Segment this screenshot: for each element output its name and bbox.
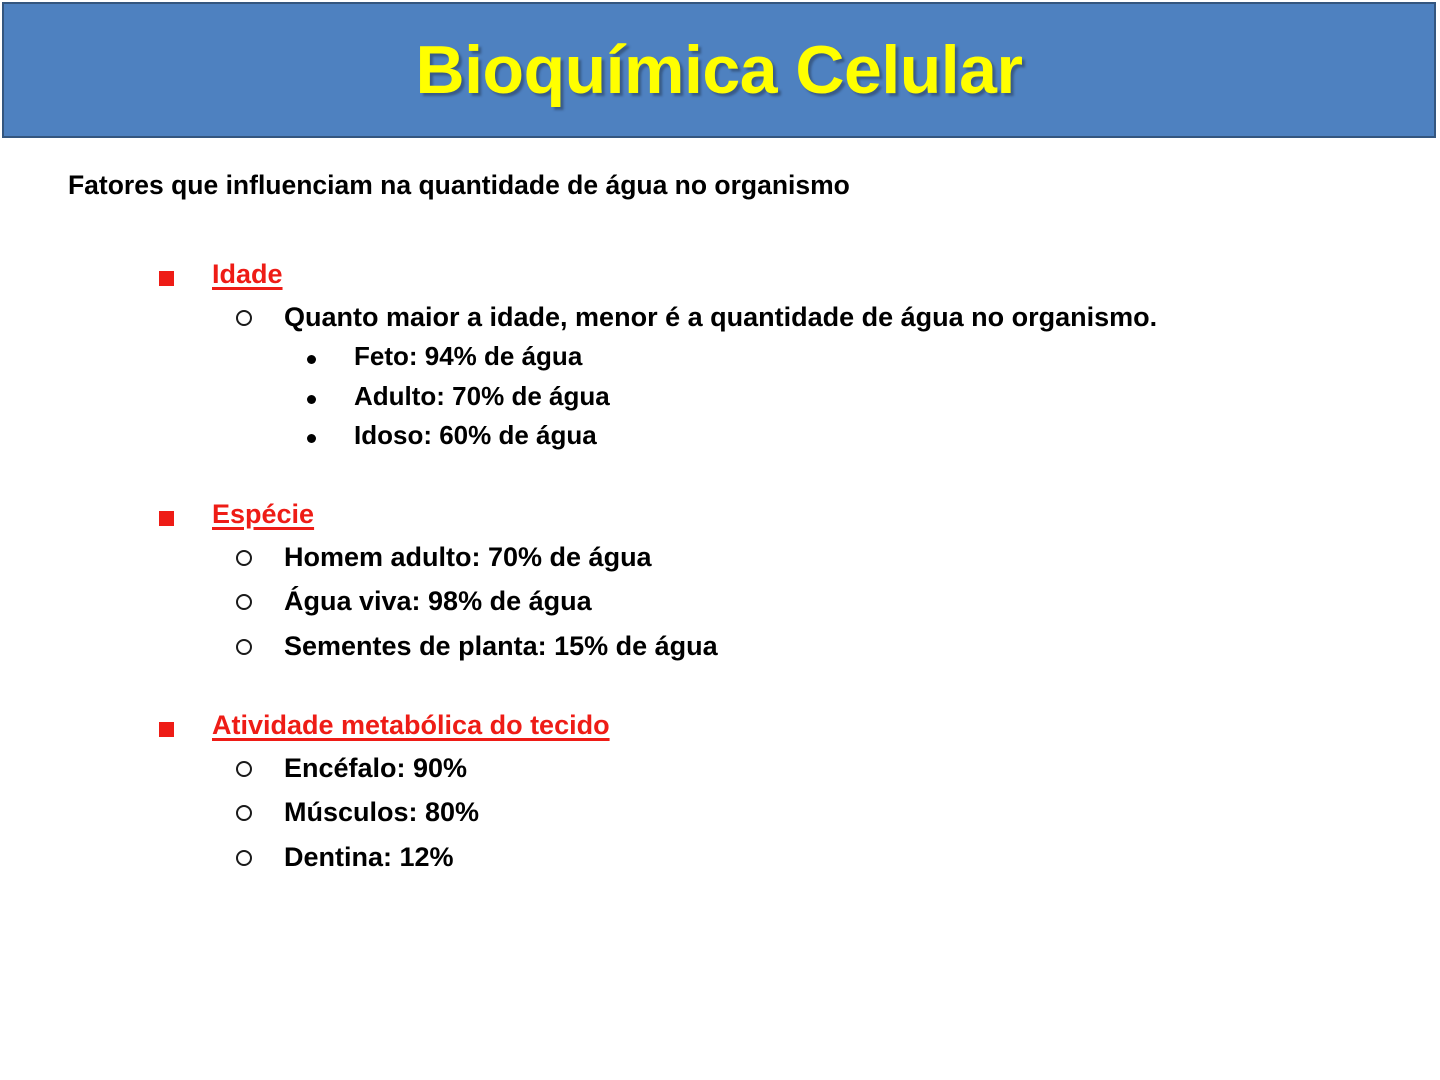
section-heading-row: Idade xyxy=(0,258,1440,292)
square-bullet-icon xyxy=(159,722,174,737)
hollow-circle-bullet-icon xyxy=(236,594,252,610)
bullet-item-text: Sementes de planta: 15% de água xyxy=(284,627,1394,665)
bullet-item: Sementes de planta: 15% de água xyxy=(0,627,1440,665)
hollow-circle-bullet-icon xyxy=(236,805,252,821)
bullet-subitem-text: Feto: 94% de água xyxy=(354,338,1440,375)
hollow-circle-bullet-icon xyxy=(236,761,252,777)
section-heading-row: Atividade metabólica do tecido xyxy=(0,709,1440,743)
bullet-subitem: Feto: 94% de água xyxy=(0,338,1440,375)
bullet-section: EspécieHomem adulto: 70% de águaÁgua viv… xyxy=(0,498,1440,665)
bullet-item: Quanto maior a idade, menor é a quantida… xyxy=(0,298,1440,336)
bullet-subitem: Idoso: 60% de água xyxy=(0,417,1440,454)
bullet-item: Água viva: 98% de água xyxy=(0,582,1440,620)
bullet-item-text: Músculos: 80% xyxy=(284,793,1394,831)
bullet-item-text: Homem adulto: 70% de água xyxy=(284,538,1394,576)
slide-title-banner: Bioquímica Celular xyxy=(2,2,1436,138)
bullet-subitem-text: Adulto: 70% de água xyxy=(354,378,1440,415)
bullet-subitem-text: Idoso: 60% de água xyxy=(354,417,1440,454)
square-bullet-icon xyxy=(159,271,174,286)
bullet-item: Encéfalo: 90% xyxy=(0,749,1440,787)
section-heading-label: Atividade metabólica do tecido xyxy=(212,709,610,743)
bullet-item-text: Quanto maior a idade, menor é a quantida… xyxy=(284,298,1394,336)
filled-dot-bullet-icon xyxy=(307,355,316,364)
hollow-circle-bullet-icon xyxy=(236,639,252,655)
bullet-section: Atividade metabólica do tecidoEncéfalo: … xyxy=(0,709,1440,876)
bullet-section: IdadeQuanto maior a idade, menor é a qua… xyxy=(0,258,1440,454)
bullet-item: Músculos: 80% xyxy=(0,793,1440,831)
section-spacer xyxy=(0,454,1440,498)
section-spacer xyxy=(0,665,1440,709)
presentation-slide: Bioquímica Celular Fatores que influenci… xyxy=(0,0,1440,1080)
bullet-item-text: Água viva: 98% de água xyxy=(284,582,1394,620)
section-heading-label: Idade xyxy=(212,258,283,292)
filled-dot-bullet-icon xyxy=(307,395,316,404)
section-heading-label: Espécie xyxy=(212,498,314,532)
bullet-subitem: Adulto: 70% de água xyxy=(0,378,1440,415)
hollow-circle-bullet-icon xyxy=(236,310,252,326)
square-bullet-icon xyxy=(159,511,174,526)
intro-heading: Fatores que influenciam na quantidade de… xyxy=(68,170,850,201)
slide-body: Fatores que influenciam na quantidade de… xyxy=(0,140,1440,1080)
hollow-circle-bullet-icon xyxy=(236,550,252,566)
bullet-item: Dentina: 12% xyxy=(0,838,1440,876)
hollow-circle-bullet-icon xyxy=(236,850,252,866)
slide-title: Bioquímica Celular xyxy=(416,36,1023,104)
bullet-item: Homem adulto: 70% de água xyxy=(0,538,1440,576)
bullet-sections: IdadeQuanto maior a idade, menor é a qua… xyxy=(0,258,1440,876)
section-heading-row: Espécie xyxy=(0,498,1440,532)
bullet-item-text: Encéfalo: 90% xyxy=(284,749,1394,787)
filled-dot-bullet-icon xyxy=(307,434,316,443)
bullet-item-text: Dentina: 12% xyxy=(284,838,1394,876)
